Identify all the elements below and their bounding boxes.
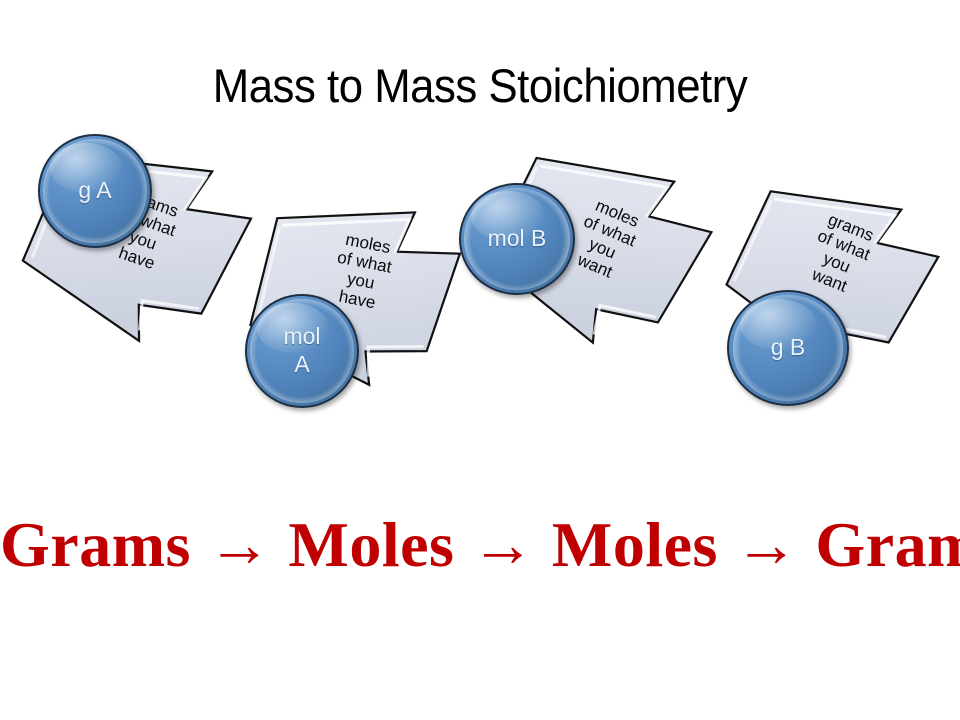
summary-equation: Grams → Moles → Moles → Grams bbox=[0, 508, 960, 582]
sphere-g-a[interactable]: g A bbox=[38, 134, 152, 248]
sphere-mol-b[interactable]: mol B bbox=[459, 183, 575, 295]
sphere-mol-b-label: mol B bbox=[488, 225, 547, 253]
slide-canvas: Mass to Mass Stoichiometry grams of what… bbox=[0, 0, 960, 720]
arrow-shape-1: grams of what you have bbox=[9, 111, 273, 368]
page-title: Mass to Mass Stoichiometry bbox=[34, 58, 927, 113]
sphere-g-b-label: g B bbox=[771, 334, 806, 362]
sphere-g-b[interactable]: g B bbox=[727, 290, 849, 406]
sphere-g-a-label: g A bbox=[78, 177, 111, 205]
sphere-mol-a[interactable]: mol A bbox=[245, 294, 359, 408]
sphere-mol-a-label: mol A bbox=[283, 323, 320, 378]
